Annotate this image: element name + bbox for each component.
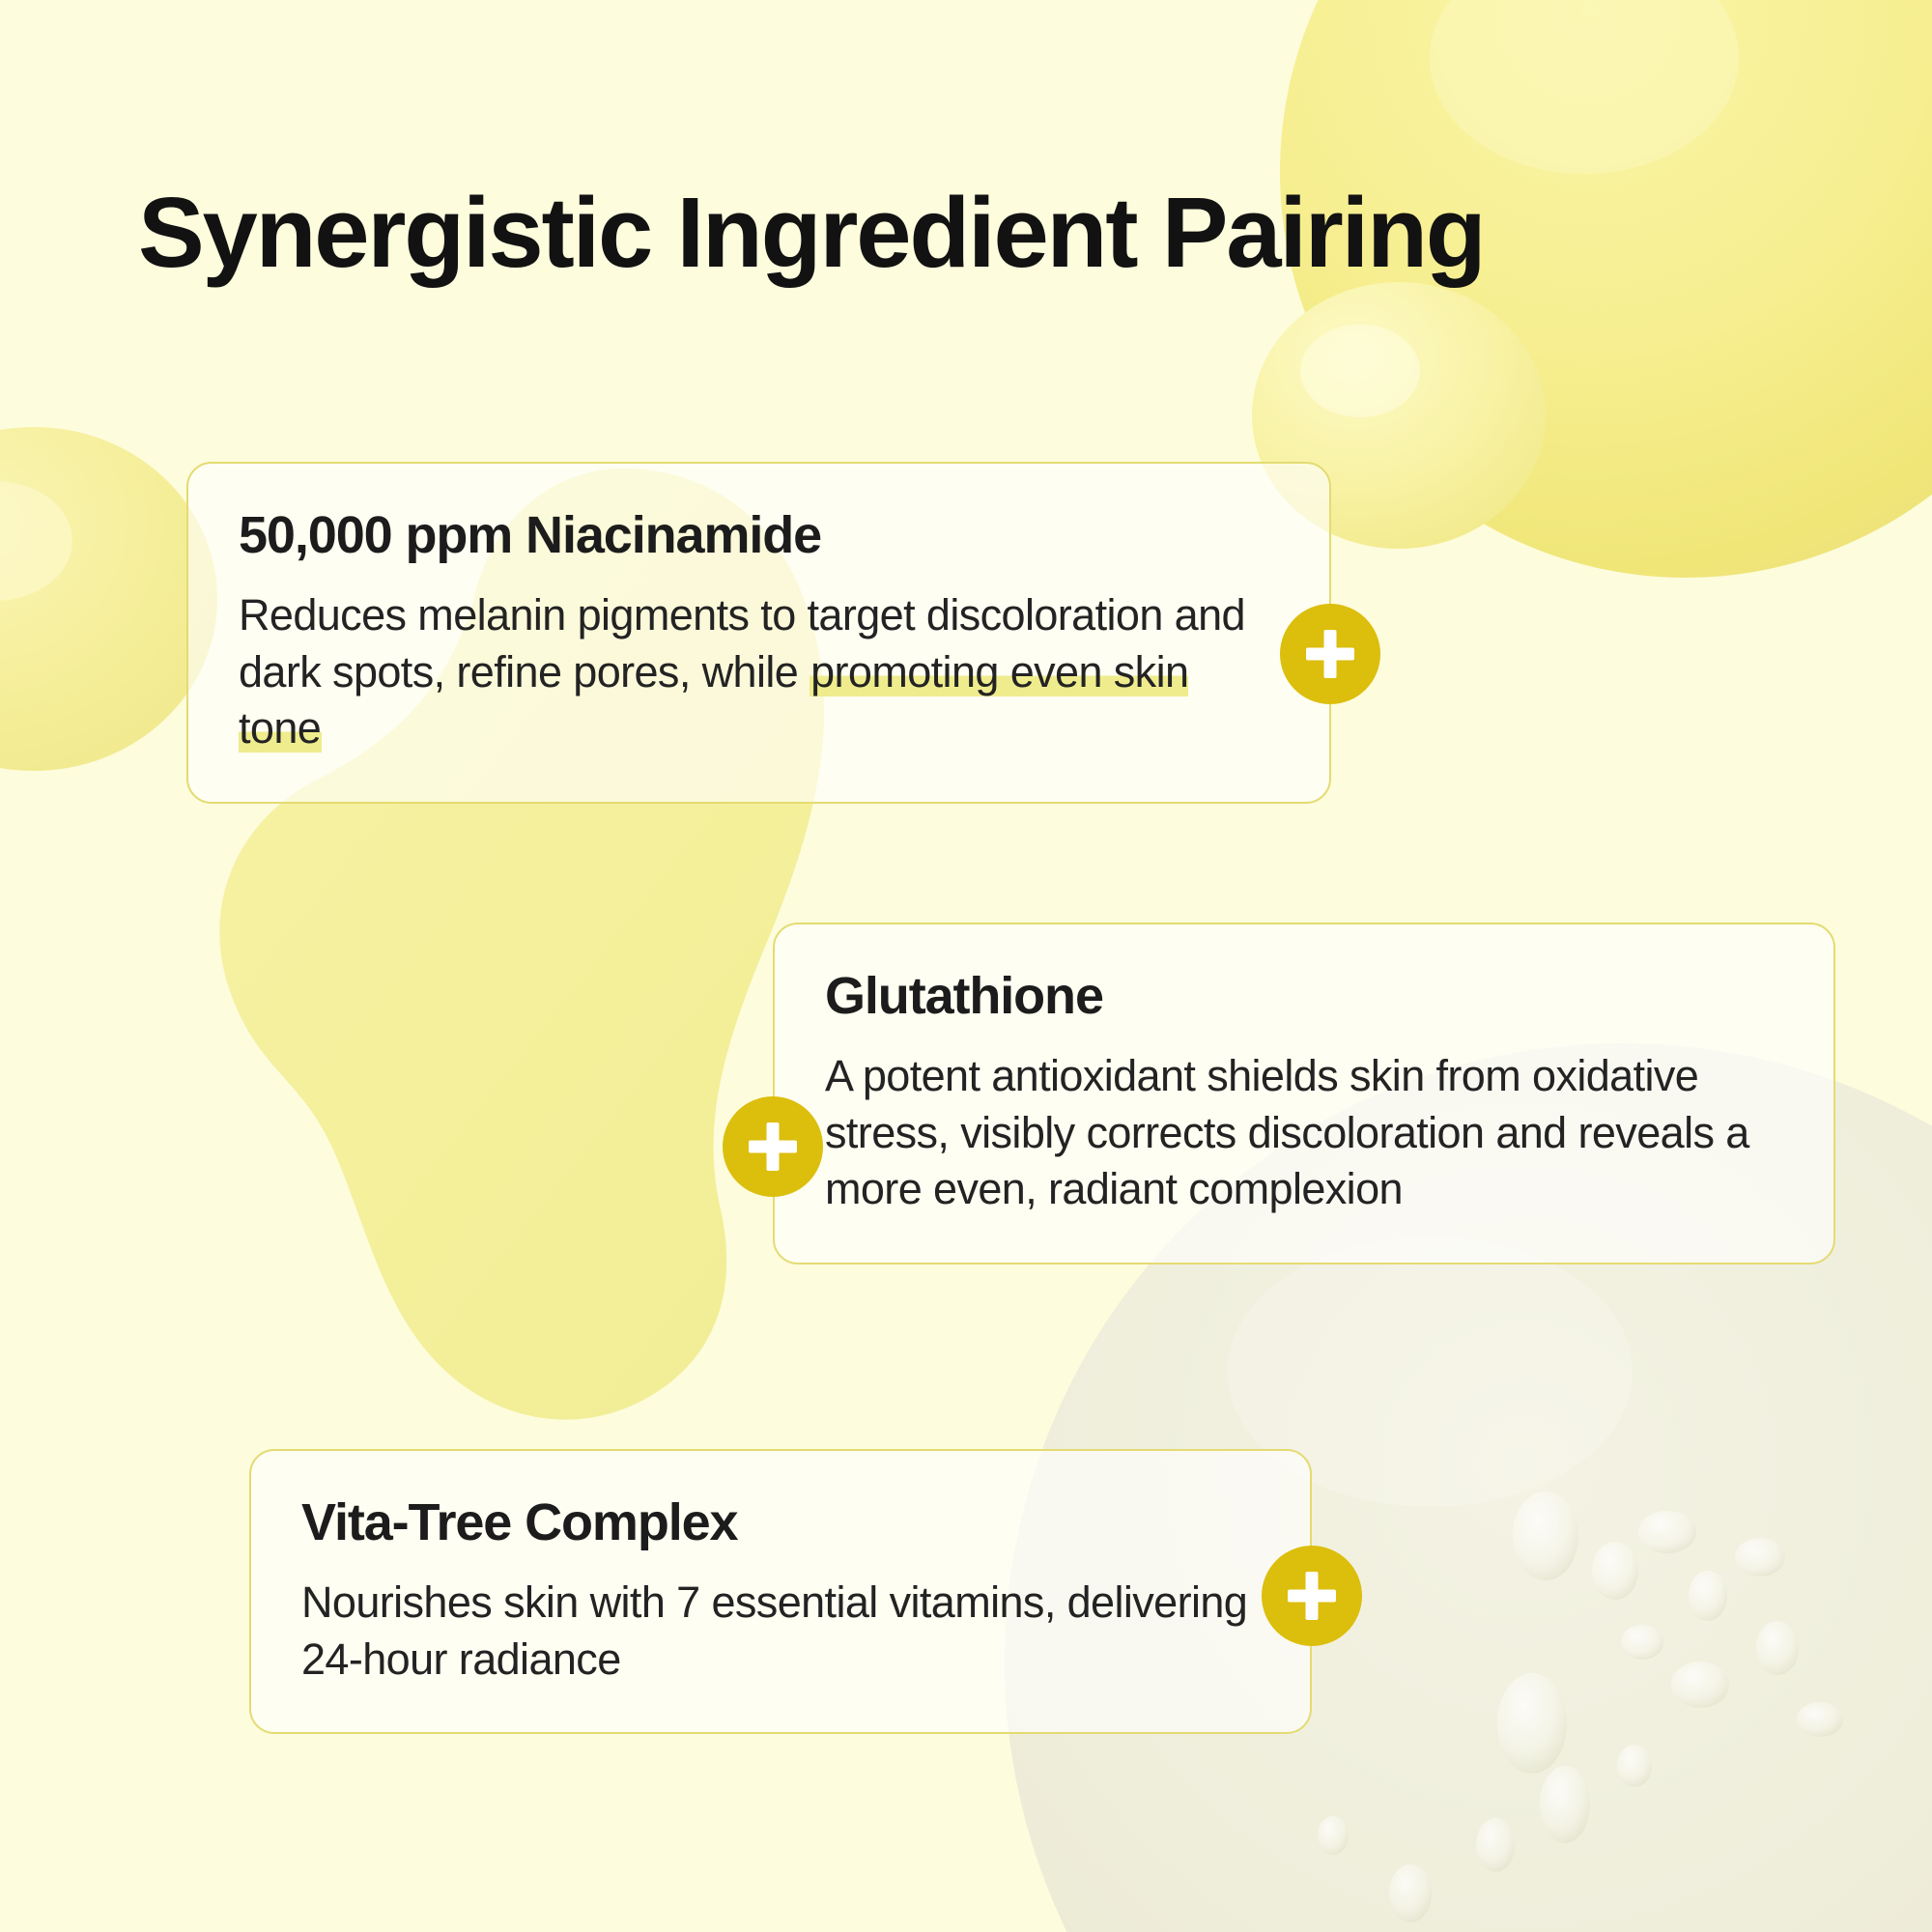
card-title-vitatree: Vita-Tree Complex <box>301 1493 1260 1551</box>
card-body-niacinamide: Reduces melanin pigments to target disco… <box>239 587 1279 757</box>
ingredient-card-glutathione: Glutathione A potent antioxidant shields… <box>773 923 1835 1264</box>
card-title-glutathione: Glutathione <box>825 967 1783 1025</box>
ingredient-card-vitatree: Vita-Tree Complex Nourishes skin with 7 … <box>249 1449 1312 1734</box>
plus-icon-vitatree <box>1262 1546 1362 1646</box>
page-title: Synergistic Ingredient Pairing <box>138 180 1877 285</box>
card-body-glutathione: A potent antioxidant shields skin from o… <box>825 1048 1783 1218</box>
card-body-vitatree: Nourishes skin with 7 essential vitamins… <box>301 1575 1260 1688</box>
card-title-niacinamide: 50,000 ppm Niacinamide <box>239 506 1279 564</box>
plus-icon-glutathione <box>723 1096 823 1197</box>
ingredient-card-niacinamide: 50,000 ppm Niacinamide Reduces melanin p… <box>186 462 1331 804</box>
plus-icon-niacinamide <box>1280 604 1380 704</box>
